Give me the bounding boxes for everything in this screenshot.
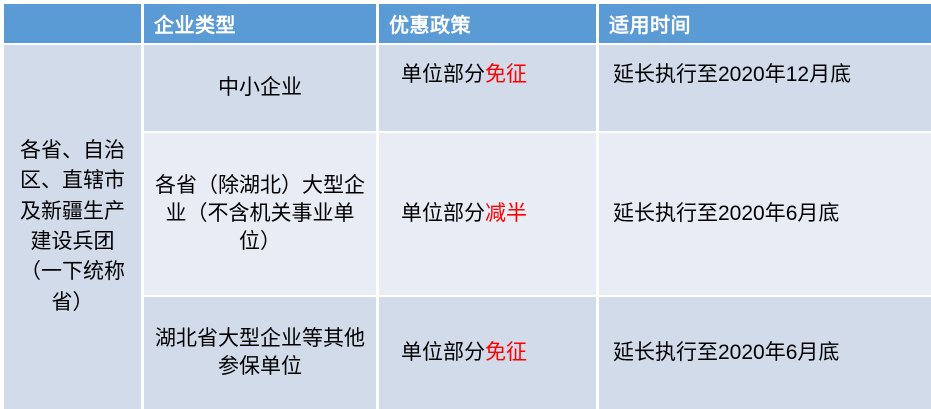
policy-prefix-text: 单位部分 xyxy=(401,63,485,86)
policy-highlight-text: 免征 xyxy=(485,341,527,364)
table-body: 各省、自治区、直辖市及新疆生产建设兵团（一下统称省） 中小企业 单位部分免征 延… xyxy=(4,45,931,409)
region-scope-label: 各省、自治区、直辖市及新疆生产建设兵团（一下统称省） xyxy=(12,136,133,319)
social-insurance-policy-table: 企业类型 优惠政策 适用时间 各省、自治区、直辖市及新疆生产建设兵团（一下统称省… xyxy=(4,4,931,409)
policy-table-container: 企业类型 优惠政策 适用时间 各省、自治区、直辖市及新疆生产建设兵团（一下统称省… xyxy=(4,4,931,409)
applicable-time-cell: 延长执行至2020年12月底 xyxy=(599,45,931,133)
table-row: 湖北省大型企业等其他参保单位 单位部分免征 延长执行至2020年6月底 xyxy=(4,297,931,409)
header-preferential-policy: 优惠政策 xyxy=(379,4,599,45)
applicable-time-cell: 延长执行至2020年6月底 xyxy=(599,297,931,409)
policy-prefix-text: 单位部分 xyxy=(401,202,485,225)
applicable-time-cell: 延长执行至2020年6月底 xyxy=(599,133,931,297)
header-enterprise-type: 企业类型 xyxy=(144,4,379,45)
preferential-policy-cell: 单位部分免征 xyxy=(379,297,599,409)
header-blank xyxy=(4,4,144,45)
enterprise-type-cell: 湖北省大型企业等其他参保单位 xyxy=(144,297,379,409)
preferential-policy-cell: 单位部分免征 xyxy=(379,45,599,133)
header-applicable-time: 适用时间 xyxy=(599,4,931,45)
enterprise-type-cell: 中小企业 xyxy=(144,45,379,133)
table-header: 企业类型 优惠政策 适用时间 xyxy=(4,4,931,45)
table-row: 各省（除湖北）大型企业（不含机关事业单位） 单位部分减半 延长执行至2020年6… xyxy=(4,133,931,297)
policy-highlight-text: 减半 xyxy=(485,202,527,225)
table-row: 各省、自治区、直辖市及新疆生产建设兵团（一下统称省） 中小企业 单位部分免征 延… xyxy=(4,45,931,133)
enterprise-type-cell: 各省（除湖北）大型企业（不含机关事业单位） xyxy=(144,133,379,297)
preferential-policy-cell: 单位部分减半 xyxy=(379,133,599,297)
policy-highlight-text: 免征 xyxy=(485,63,527,86)
table-header-row: 企业类型 优惠政策 适用时间 xyxy=(4,4,931,45)
region-scope-cell: 各省、自治区、直辖市及新疆生产建设兵团（一下统称省） xyxy=(4,45,144,409)
policy-prefix-text: 单位部分 xyxy=(401,341,485,364)
